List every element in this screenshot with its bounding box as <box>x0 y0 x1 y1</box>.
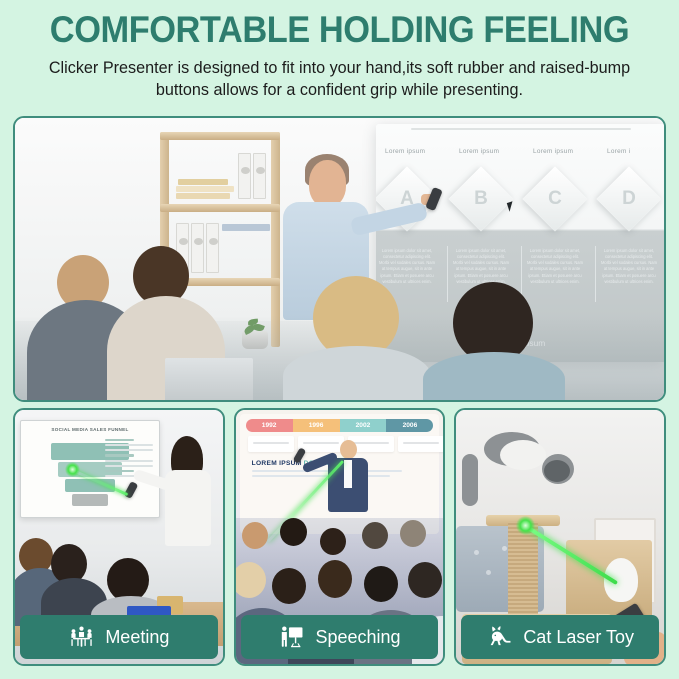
funnel-slide-title: SOCIAL MEDIA SALES FUNNEL <box>21 427 159 432</box>
page-title: COMFORTABLE HOLDING FEELING <box>37 10 642 50</box>
slide-body-2: Lorem ipsum dolor sit amet, consectetur … <box>452 248 510 285</box>
subtitle-line-1: Clicker Presenter is designed to fit int… <box>49 59 536 77</box>
meeting-table-people-icon <box>68 624 95 651</box>
slide-header-2: Lorem ipsum <box>459 148 499 155</box>
page-subtitle: Clicker Presenter is designed to fit int… <box>14 57 665 102</box>
cat-icon <box>486 624 513 651</box>
slide-letter-3: C <box>532 176 578 222</box>
timeline-year-bar: 1992 1996 2002 2006 <box>246 419 434 432</box>
slide-body-1: Lorem ipsum dolor sit amet, consectetur … <box>378 248 436 285</box>
tile-cat-laser-toy[interactable]: Cat Laser Toy <box>454 408 666 666</box>
caption-label-meeting: Meeting <box>105 628 169 646</box>
header: COMFORTABLE HOLDING FEELING Clicker Pres… <box>0 0 679 102</box>
year-4: 2006 <box>386 419 433 432</box>
year-3: 2002 <box>340 419 387 432</box>
caption-meeting: Meeting <box>20 615 218 659</box>
slide-body-3: Lorem ipsum dolor sit amet, consectetur … <box>526 248 584 285</box>
slide-header-1: Lorem ipsum <box>385 148 425 155</box>
caption-label-cat-laser-toy: Cat Laser Toy <box>523 628 634 646</box>
scratching-post <box>508 521 538 626</box>
caption-label-speeching: Speeching <box>315 628 400 646</box>
caption-cat-laser-toy: Cat Laser Toy <box>461 615 659 659</box>
tile-speeching[interactable]: 1992 1996 2002 2006 LOREM IPSUM DOLOR SI… <box>234 408 446 666</box>
presenter-board-icon <box>278 624 305 651</box>
slide-header-3: Lorem ipsum <box>533 148 573 155</box>
year-2: 1996 <box>293 419 340 432</box>
caption-speeching: Speeching <box>241 615 439 659</box>
feature-tiles: SOCIAL MEDIA SALES FUNNEL <box>13 408 666 666</box>
slide-letter-2: B <box>458 176 504 222</box>
mouse-cursor-icon <box>507 201 515 211</box>
slide-body-4: Lorem ipsum dolor sit amet, consectetur … <box>600 248 658 285</box>
hero-scene: Lorem ipsum Lorem ipsum Lorem ipsum Lore… <box>15 118 664 400</box>
year-1: 1992 <box>246 419 293 432</box>
hero-photo: Lorem ipsum Lorem ipsum Lorem ipsum Lore… <box>13 116 666 402</box>
slide-letter-4: D <box>606 176 652 222</box>
slide-header-4: Lorem i <box>607 148 630 155</box>
tile-meeting[interactable]: SOCIAL MEDIA SALES FUNNEL <box>13 408 225 666</box>
